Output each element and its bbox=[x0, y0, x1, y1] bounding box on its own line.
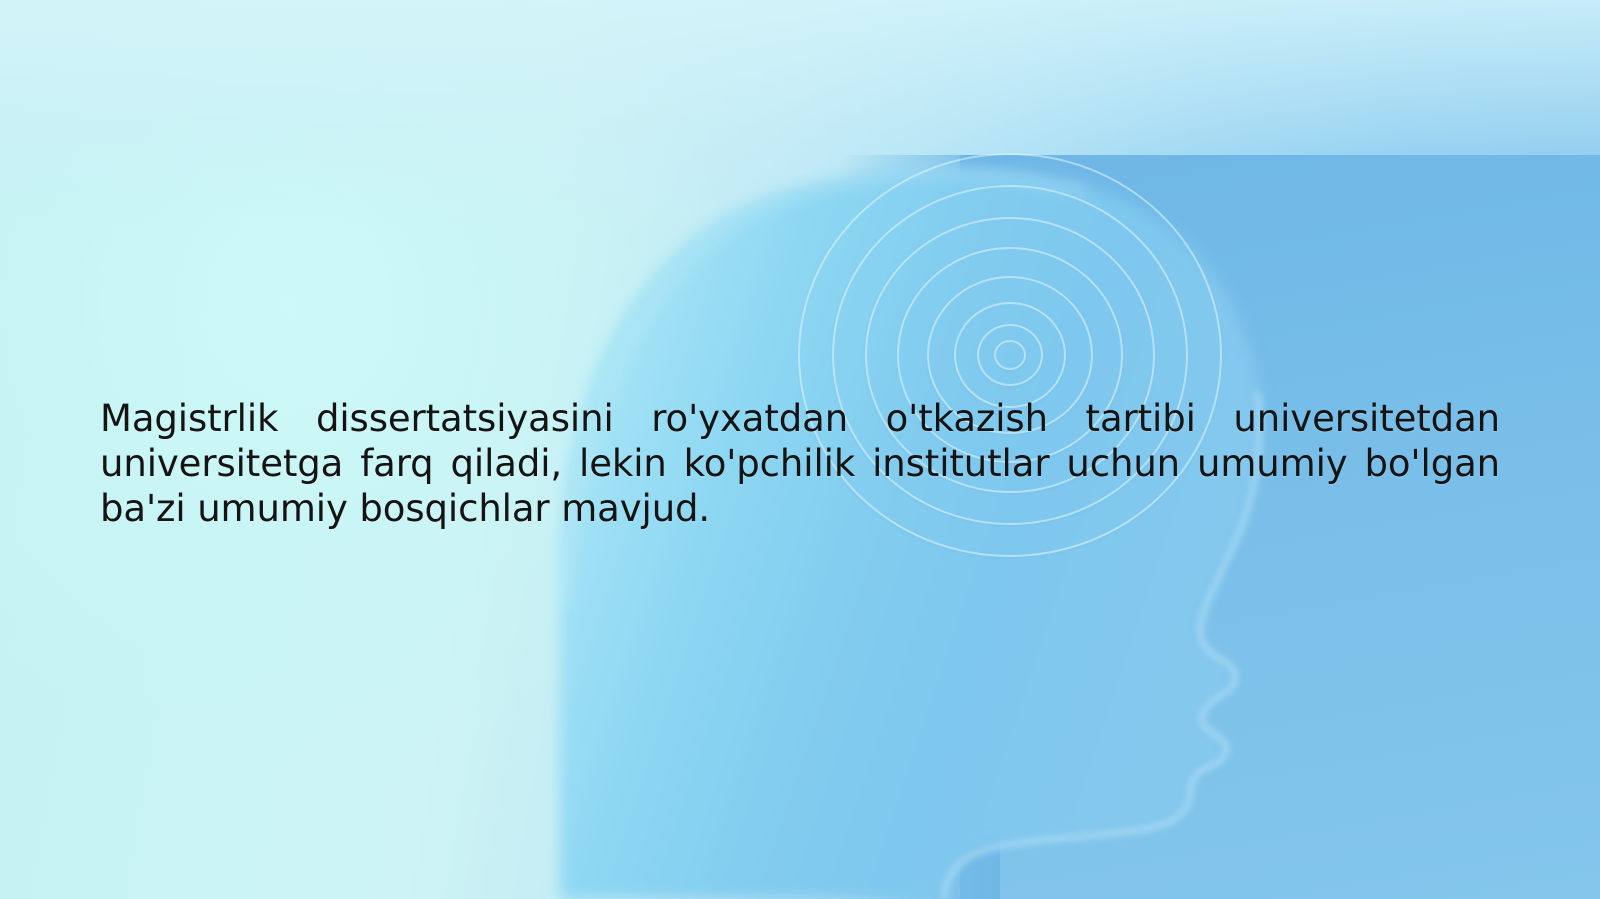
slide-body-text: Magistrlik dissertatsiyasini ro'yxatdan … bbox=[100, 396, 1500, 531]
presentation-slide: Magistrlik dissertatsiyasini ro'yxatdan … bbox=[0, 0, 1600, 899]
slide-body-paragraph: Magistrlik dissertatsiyasini ro'yxatdan … bbox=[100, 396, 1500, 531]
